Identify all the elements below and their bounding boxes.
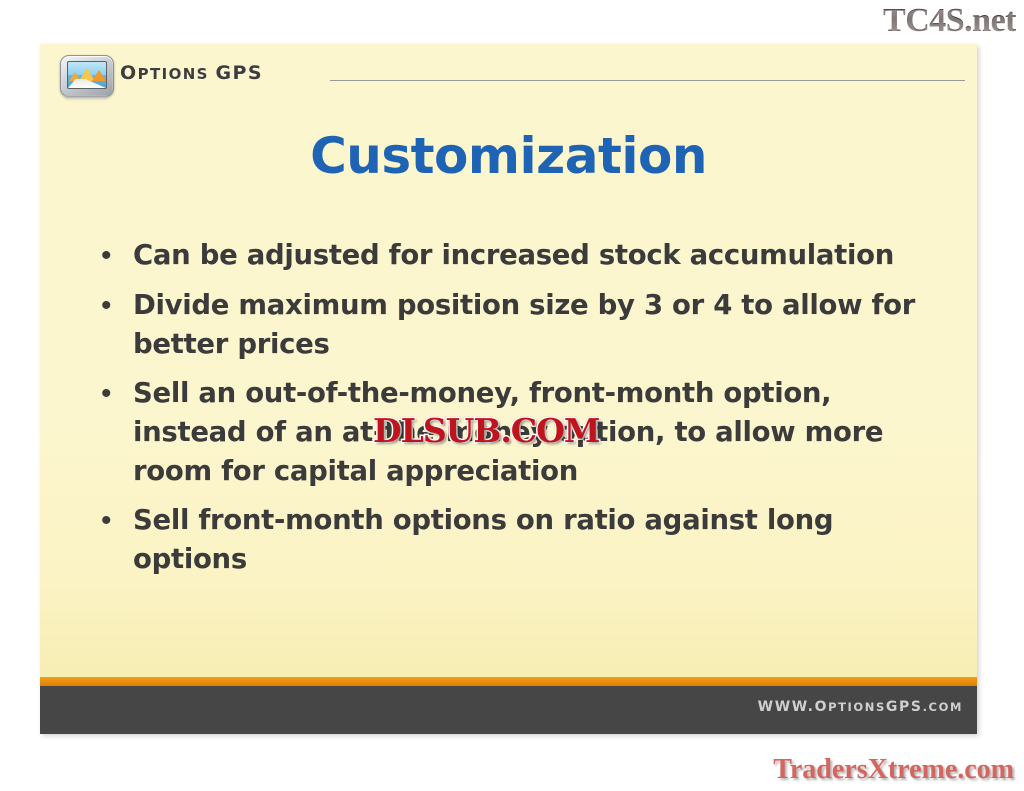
dlsub-watermark: DLSUB.COM [373,413,599,449]
footer-url-mid: PTIONS [828,700,886,714]
bullet-text: Divide maximum position size by 3 or 4 t… [133,286,940,364]
footer-url-lead: WWW.O [758,699,828,715]
bullet-marker-icon: • [95,236,133,276]
slide-header: OPTIONS GPS [40,44,977,106]
bullet-text: Sell front-month options on ratio agains… [133,501,940,579]
bullet-text: Can be adjusted for increased stock accu… [133,236,940,275]
tradersxtreme-watermark: TradersXtreme.com [773,753,1014,787]
logo-text-gps: GPS [216,62,263,84]
presentation-slide: OPTIONS GPS Customization • Can be adjus… [40,44,977,734]
page-title: Customization [40,128,977,184]
slide-footer: WWW.OPTIONSGPS.COM [40,686,977,734]
list-item: • Sell front-month options on ratio agai… [95,501,940,579]
site-brand-watermark: TC4S.net [883,2,1016,40]
list-item: • Can be adjusted for increased stock ac… [95,236,940,276]
bullet-marker-icon: • [95,501,133,541]
logo-text-rest: PTIONS [138,65,216,83]
logo-text-lead: O [120,62,138,84]
accent-stripe [40,677,977,686]
brand-logo-text: OPTIONS GPS [120,62,263,84]
footer-url: WWW.OPTIONSGPS.COM [758,699,963,715]
gps-device-icon [58,55,116,99]
list-item: • Divide maximum position size by 3 or 4… [95,286,940,364]
bullet-marker-icon: • [95,374,133,414]
footer-url-tail: .COM [923,700,963,714]
header-divider [330,80,965,81]
bullet-marker-icon: • [95,286,133,326]
footer-url-gps: GPS [886,699,923,715]
